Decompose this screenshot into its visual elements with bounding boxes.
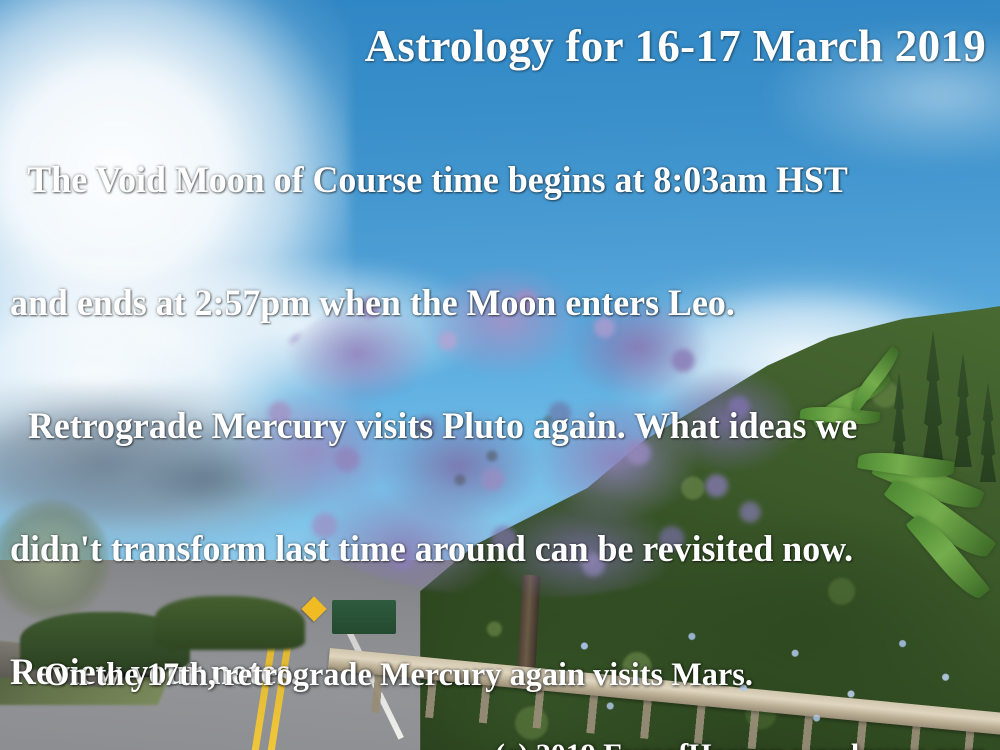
- body-line: The Void Moon of Course time begins at 8…: [10, 160, 857, 201]
- copyright-line: (c) 2019 EyesofHeaven.wordpress.com: [495, 736, 986, 750]
- body-line: Retrograde Mercury visits Pluto again. W…: [10, 406, 857, 447]
- astrology-poster: Astrology for 16-17 March 2019 The Void …: [0, 0, 1000, 750]
- credit-block: (c) 2019 EyesofHeaven.wordpress.com Time…: [495, 660, 986, 750]
- body-line: and ends at 2:57pm when the Moon enters …: [10, 283, 857, 324]
- page-title: Astrology for 16-17 March 2019: [365, 20, 986, 72]
- body-line: didn't transform last time around can be…: [10, 529, 857, 570]
